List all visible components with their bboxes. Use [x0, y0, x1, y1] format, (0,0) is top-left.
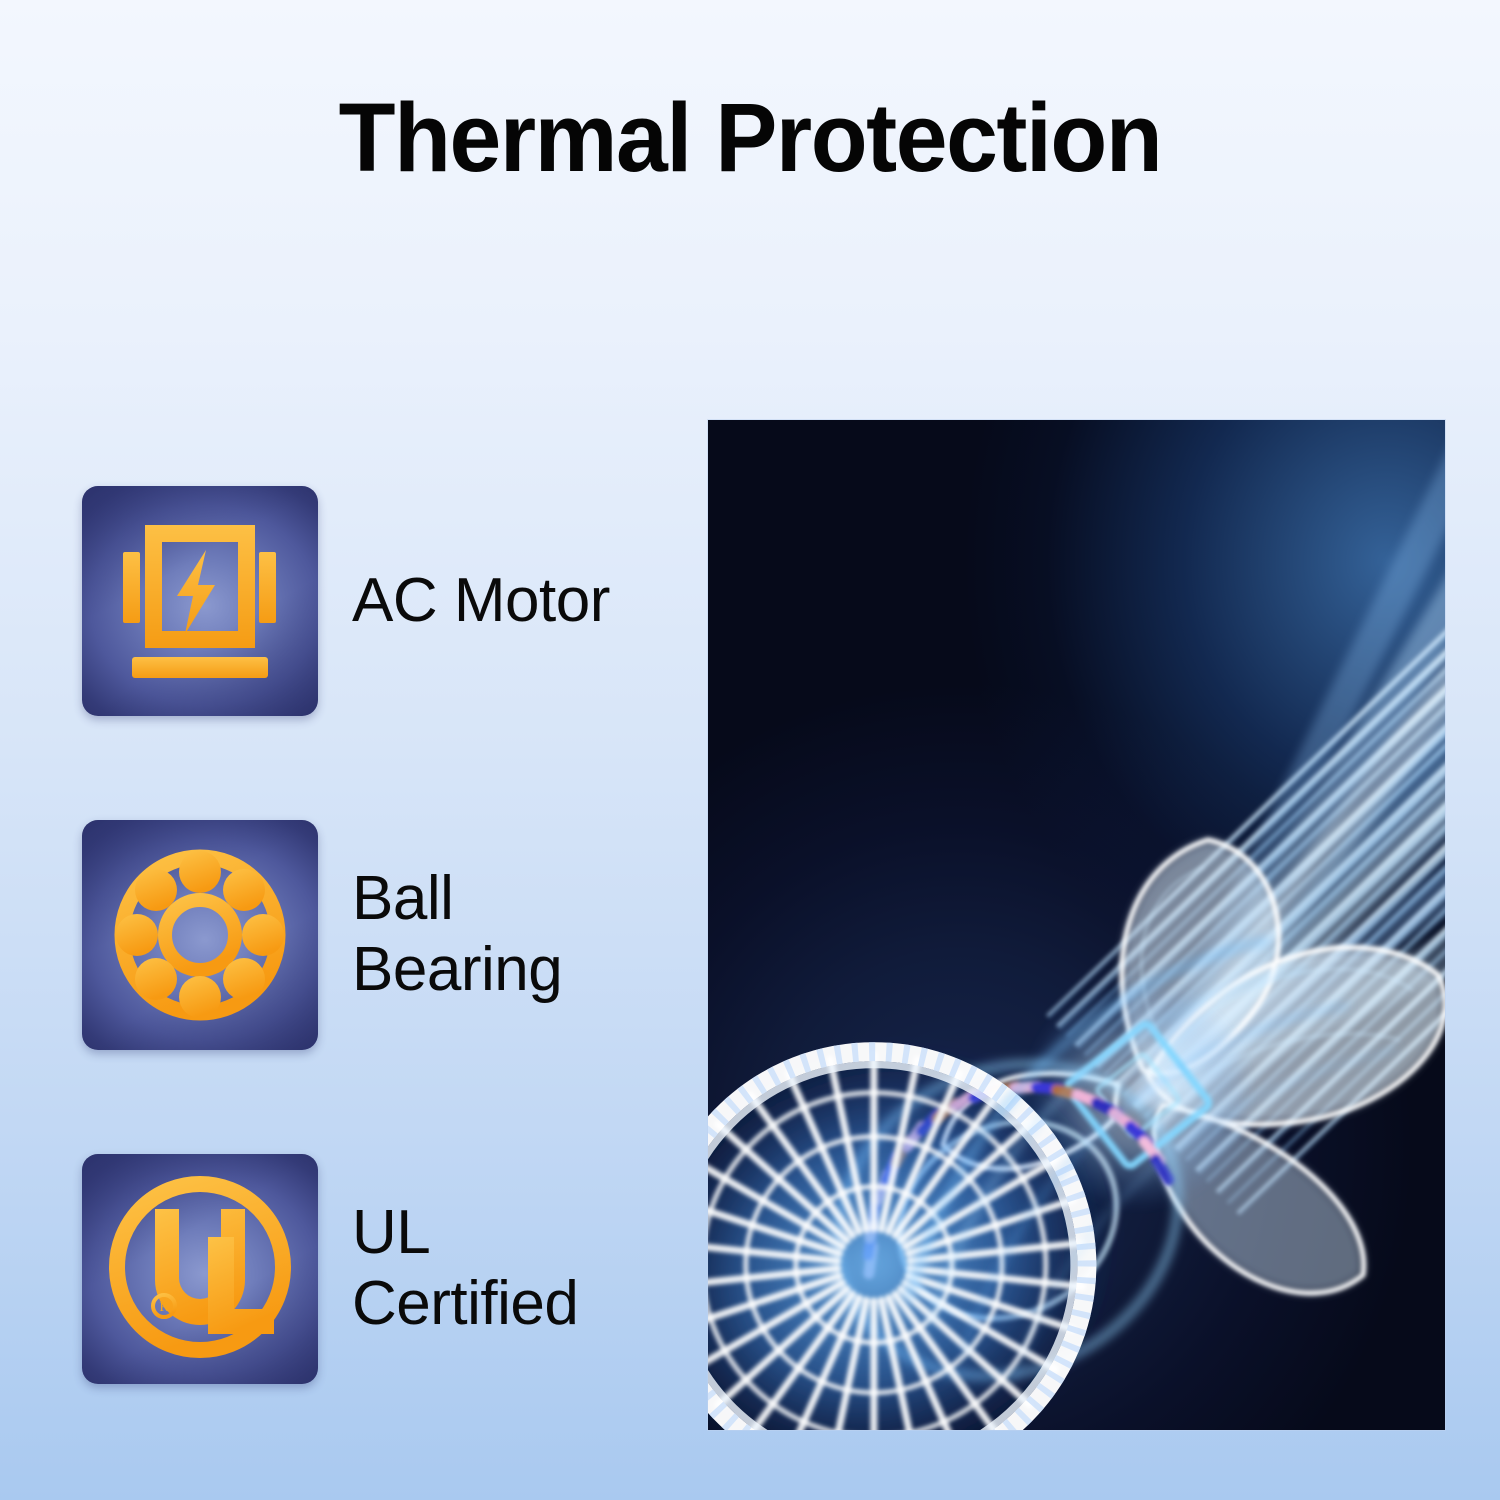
ball-bearing-icon-box	[82, 820, 318, 1050]
ac-motor-icon	[82, 486, 318, 716]
feature-item-ball-bearing: Ball Bearing	[82, 820, 682, 1050]
product-image-artwork	[708, 420, 1445, 1430]
ball-bearing-icon	[82, 820, 318, 1050]
feature-label-ac-motor: AC Motor	[352, 566, 610, 637]
page-title: Thermal Protection	[30, 86, 1470, 191]
feature-item-ac-motor: AC Motor	[82, 486, 682, 716]
svg-text:R: R	[159, 1300, 169, 1315]
feature-list: AC Motor	[82, 486, 682, 1384]
product-image	[708, 420, 1445, 1430]
feature-label-ul-certified: UL Certified	[352, 1198, 578, 1339]
ac-motor-icon-box	[82, 486, 318, 716]
feature-label-ball-bearing: Ball Bearing	[352, 864, 562, 1005]
feature-item-ul-certified: R UL Certified	[82, 1154, 682, 1384]
ul-certified-icon-box: R	[82, 1154, 318, 1384]
ul-certified-icon: R	[82, 1154, 318, 1384]
